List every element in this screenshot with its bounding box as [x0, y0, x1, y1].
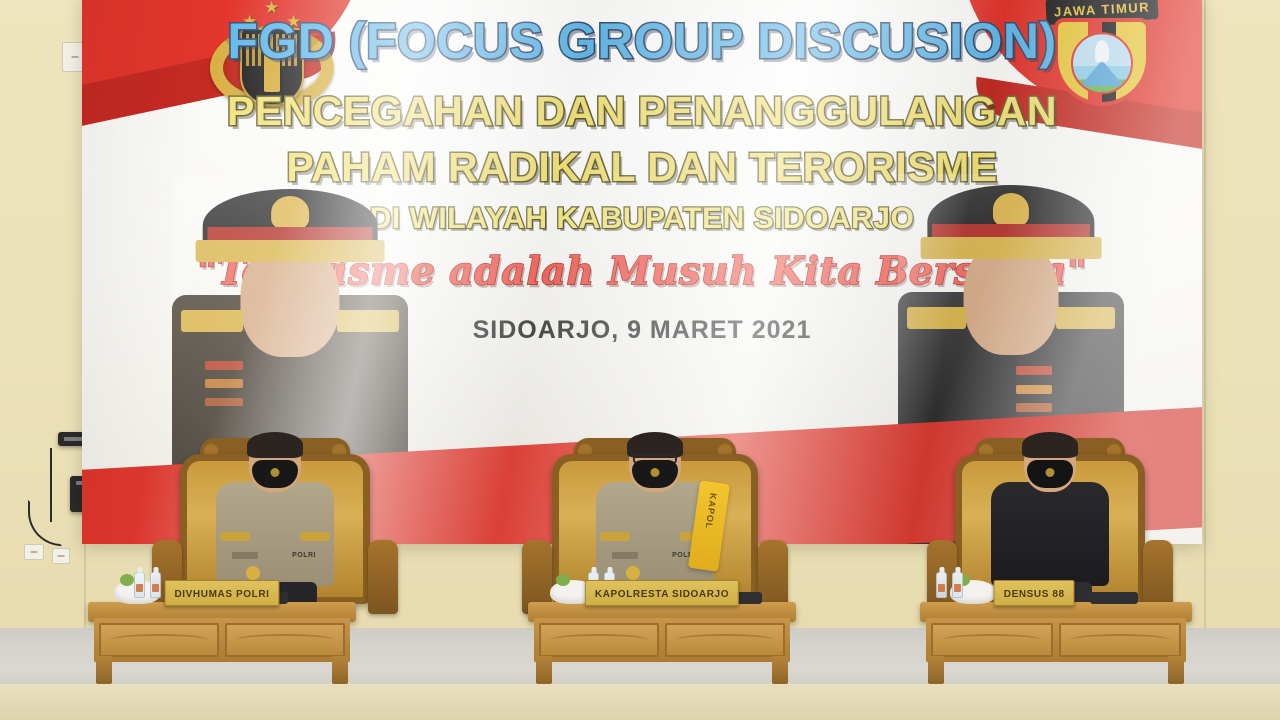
person-kapolresta-sidoarjo: POLRI KAPOL [590, 434, 720, 586]
nameplate-kapolresta-sidoarjo: KAPOLRESTA SIDOARJO [585, 580, 739, 606]
nameplate-densus-88: DENSUS 88 [994, 580, 1075, 606]
table-left-panel-1 [99, 623, 219, 657]
table-right-panel-2 [1059, 623, 1181, 657]
table-center-apron [534, 618, 790, 662]
nameplate-left-label: DIVHUMAS POLRI [174, 589, 269, 600]
floor-foreground-strip [0, 684, 1280, 720]
person-center-medal [626, 566, 640, 580]
table-left-leg-right [332, 656, 348, 684]
person-right-face-mask [1027, 460, 1073, 488]
table-right-panel-1 [931, 623, 1053, 657]
person-left-epaulet-left [220, 532, 250, 541]
water-bottle-right-1 [936, 572, 947, 598]
person-left-epaulet-right [300, 532, 330, 541]
water-bottle-left-2 [150, 572, 161, 598]
table-right-leg-left [928, 656, 944, 684]
wall-outlet-upper[interactable] [24, 544, 44, 560]
wall-seam-right [1204, 0, 1206, 632]
person-right-hair [1022, 432, 1078, 458]
person-center-epaulet-left [600, 532, 630, 541]
person-left-hair [247, 432, 303, 458]
nameplate-right-label: DENSUS 88 [1004, 589, 1065, 600]
table-center-leg-left [536, 656, 552, 684]
person-center-name-patch [612, 552, 638, 559]
person-densus-88 [985, 434, 1115, 586]
table-left-leg-left [96, 656, 112, 684]
nameplate-divhumas-polri: DIVHUMAS POLRI [164, 580, 279, 606]
person-center-sash-label: KAPOL [704, 492, 719, 530]
person-divhumas-polri: POLRI [210, 434, 340, 586]
table-left-apron [94, 618, 350, 662]
chair-left-arm-right [368, 540, 398, 614]
tray-right [1090, 592, 1138, 604]
table-right-apron [926, 618, 1186, 662]
person-left-torso: POLRI [216, 482, 334, 586]
water-bottle-right-2 [952, 572, 963, 598]
nameplate-center-label: KAPOLRESTA SIDOARJO [595, 589, 729, 600]
person-center-face-mask [632, 460, 678, 488]
person-left-face-mask [252, 460, 298, 488]
photograph-scene: ★ ★ ★ JAWA TIMUR FGD (FOCUS GROUP DISCUS… [0, 0, 1280, 720]
table-center-leg-right [772, 656, 788, 684]
person-left-name-patch [232, 552, 258, 559]
table-right-leg-right [1168, 656, 1184, 684]
wall-outlet-lower[interactable] [52, 548, 70, 564]
person-left-polri-patch: POLRI [292, 552, 316, 559]
table-center-panel-1 [539, 623, 659, 657]
table-left-panel-2 [225, 623, 345, 657]
water-bottle-left-1 [134, 572, 145, 598]
person-left-medal [246, 566, 260, 580]
person-right-torso [991, 482, 1109, 586]
table-center-panel-2 [665, 623, 785, 657]
